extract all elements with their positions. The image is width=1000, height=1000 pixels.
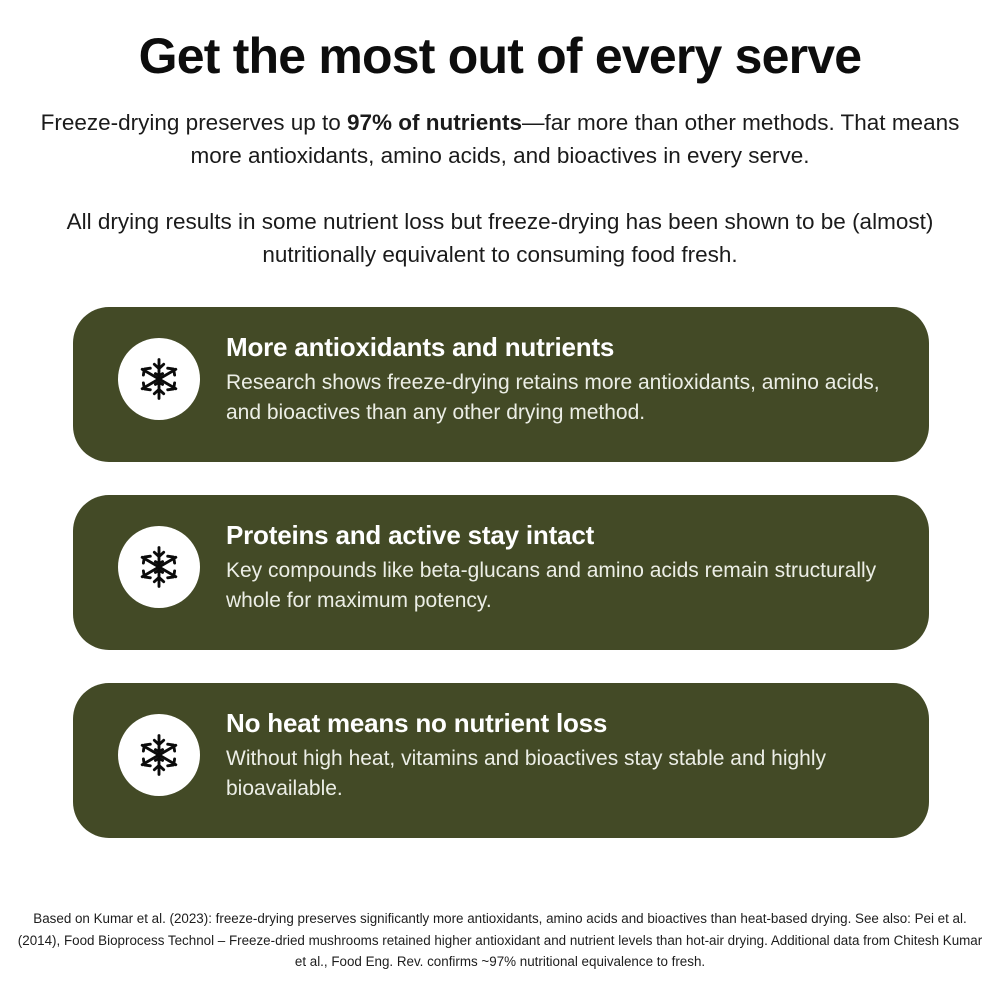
snowflake-icon-badge — [118, 526, 200, 608]
intro-paragraph-secondary: All drying results in some nutrient loss… — [60, 205, 940, 272]
footnote-citations: Based on Kumar et al. (2023): freeze-dry… — [16, 908, 984, 973]
freeze-drying-benefits-panel: Get the most out of every serve Freeze-d… — [0, 0, 1000, 1000]
benefit-card-body: Key compounds like beta-glucans and amin… — [226, 556, 895, 616]
snowflake-icon — [136, 544, 182, 590]
benefit-card-list: More antioxidants and nutrients Research… — [73, 307, 929, 838]
benefit-card-title: Proteins and active stay intact — [226, 519, 895, 552]
benefit-card: No heat means no nutrient loss Without h… — [73, 683, 929, 838]
benefit-card-text: Proteins and active stay intact Key comp… — [200, 495, 929, 616]
benefit-card-body: Without high heat, vitamins and bioactiv… — [226, 744, 895, 804]
benefit-card-text: More antioxidants and nutrients Research… — [200, 307, 929, 428]
snowflake-icon-badge — [118, 714, 200, 796]
page-title: Get the most out of every serve — [0, 0, 1000, 84]
benefit-card-title: No heat means no nutrient loss — [226, 707, 895, 740]
snowflake-icon-badge — [118, 338, 200, 420]
snowflake-icon — [136, 732, 182, 778]
benefit-card: Proteins and active stay intact Key comp… — [73, 495, 929, 650]
snowflake-icon — [136, 356, 182, 402]
intro-highlight-97-percent: 97% of nutrients — [347, 110, 522, 135]
intro-paragraph-primary: Freeze-drying preserves up to 97% of nut… — [29, 106, 971, 173]
benefit-card-text: No heat means no nutrient loss Without h… — [200, 683, 929, 804]
intro-text-lead: Freeze-drying preserves up to — [41, 110, 347, 135]
benefit-card-body: Research shows freeze-drying retains mor… — [226, 368, 895, 428]
benefit-card-title: More antioxidants and nutrients — [226, 331, 895, 364]
benefit-card: More antioxidants and nutrients Research… — [73, 307, 929, 462]
